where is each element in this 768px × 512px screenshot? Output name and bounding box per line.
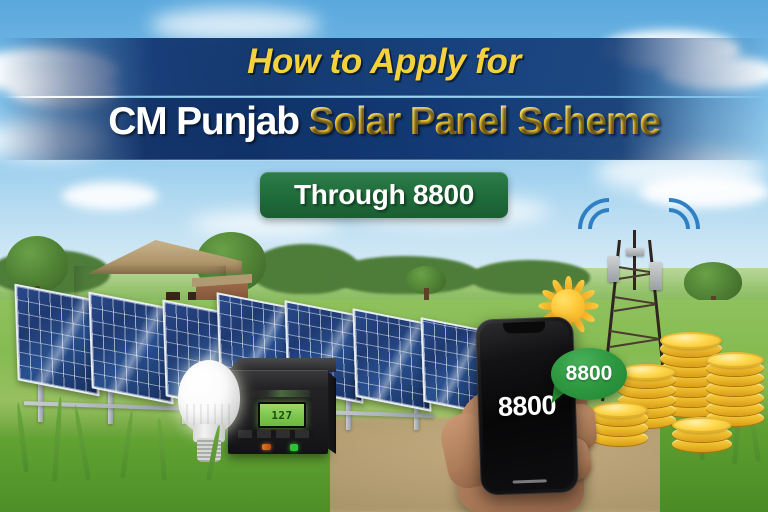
tree-icon bbox=[406, 266, 446, 294]
cloud-icon bbox=[150, 8, 320, 42]
inverter-display: 127 bbox=[258, 402, 306, 428]
led-bulb-icon bbox=[178, 360, 240, 464]
badge-label: Through 8800 bbox=[294, 179, 474, 210]
solar-inverter-icon: 127 bbox=[228, 358, 336, 456]
home-indicator bbox=[513, 479, 547, 483]
phone-screen[interactable]: 8800 bbox=[479, 320, 575, 491]
phone-notch bbox=[503, 321, 545, 333]
headline-scheme-name: Solar Panel Scheme bbox=[309, 100, 660, 143]
banner-divider bbox=[0, 159, 768, 161]
title-banner: How to Apply for CM Punjab Solar Panel S… bbox=[0, 38, 768, 168]
inverter-led-red bbox=[262, 444, 271, 450]
poster-canvas: 127 bbox=[0, 0, 768, 512]
status-badge: Through 8800 bbox=[260, 172, 508, 218]
speech-bubble-value: 8800 bbox=[566, 362, 613, 386]
headline-line-1: How to Apply for bbox=[0, 42, 768, 82]
solar-panel-icon bbox=[14, 284, 99, 397]
banner-divider bbox=[0, 95, 768, 97]
inverter-led-green bbox=[290, 444, 298, 451]
cloud-icon bbox=[62, 182, 158, 210]
smartphone-icon[interactable]: 8800 bbox=[475, 316, 579, 495]
antenna-icon bbox=[650, 262, 662, 290]
headline-scheme-owner: CM Punjab bbox=[108, 100, 308, 143]
solar-panel-icon bbox=[88, 292, 173, 405]
treeline bbox=[330, 256, 480, 294]
speech-bubble-icon: 8800 bbox=[551, 348, 627, 400]
hand-holding-phone: 8800 bbox=[436, 318, 626, 512]
tree-icon bbox=[684, 262, 742, 302]
phone-screen-value: 8800 bbox=[497, 389, 556, 422]
inverter-display-value: 127 bbox=[271, 409, 292, 422]
headline-line-2: CM Punjab Solar Panel Scheme bbox=[0, 100, 768, 144]
solar-panel-icon bbox=[352, 308, 431, 412]
